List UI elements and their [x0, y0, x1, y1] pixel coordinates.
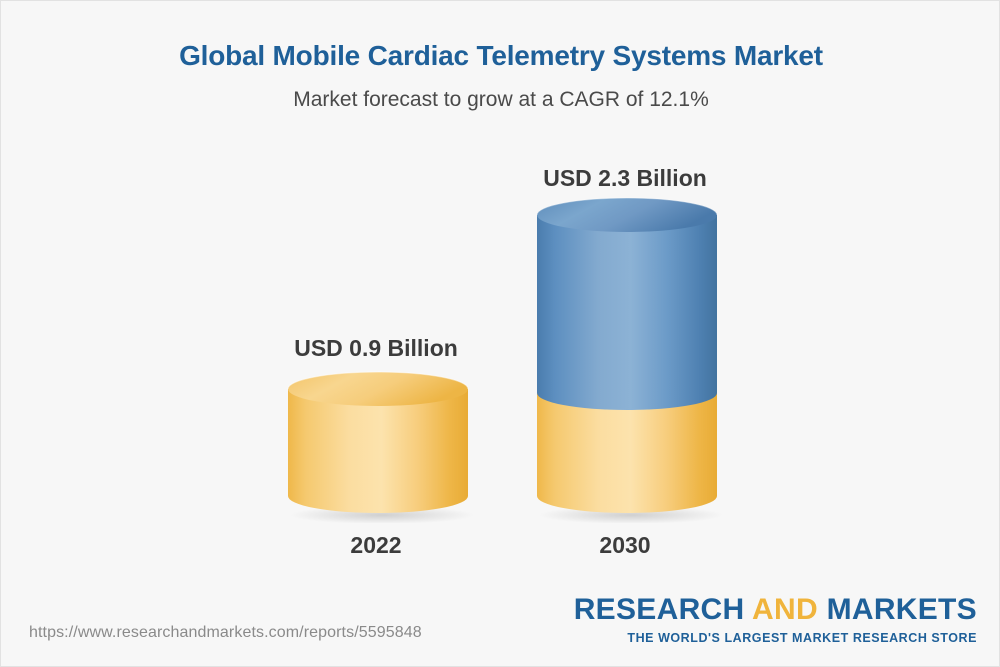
cylinder-2030-svg	[533, 197, 723, 523]
logo-word-research: RESEARCH	[574, 593, 745, 626]
chart-page: Global Mobile Cardiac Telemetry Systems …	[0, 0, 1000, 667]
research-and-markets-logo[interactable]: RESEARCH AND MARKETS THE WORLD'S LARGEST…	[574, 595, 977, 645]
value-label-2022: USD 0.9 Billion	[246, 335, 506, 362]
category-label-2022: 2022	[246, 532, 506, 559]
cylinder-2022-svg	[284, 367, 474, 523]
cylinder-bar-2022[interactable]	[284, 367, 474, 523]
logo-wordmark: RESEARCH AND MARKETS	[574, 595, 977, 625]
logo-tagline: THE WORLD'S LARGEST MARKET RESEARCH STOR…	[574, 632, 977, 645]
logo-word-markets: MARKETS	[827, 593, 977, 626]
value-label-2030: USD 2.3 Billion	[495, 165, 755, 192]
source-url[interactable]: https://www.researchandmarkets.com/repor…	[29, 624, 422, 642]
category-label-2030: 2030	[495, 532, 755, 559]
chart-plot-area: USD 0.9 Billion	[1, 1, 1000, 667]
cylinder-bar-2030[interactable]	[533, 197, 723, 523]
cylinder-2022-body	[288, 389, 468, 513]
cylinder-2030-base-segment	[537, 393, 717, 513]
logo-word-and: AND	[752, 593, 818, 626]
cylinder-2030-growth-segment	[537, 215, 717, 410]
